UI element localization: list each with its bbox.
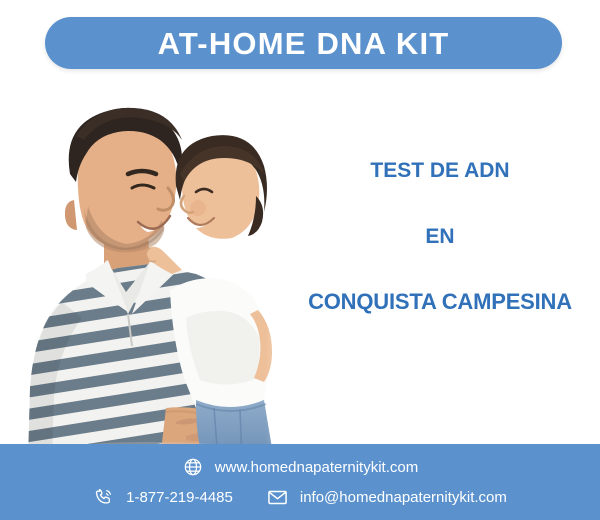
page-title: AT-HOME DNA KIT (158, 28, 450, 59)
headline-line-3: CONQUISTA CAMPESINA (285, 291, 595, 313)
footer-phone-label: 1-877-219-4485 (126, 490, 233, 505)
dna-kit-poster: AT-HOME DNA KIT (0, 0, 600, 520)
headline-line-2: EN (285, 226, 595, 247)
header-banner: AT-HOME DNA KIT (45, 17, 562, 69)
footer-row-website: www.homednapaternitykit.com (0, 456, 600, 478)
envelope-icon (267, 486, 289, 508)
headline-block: TEST DE ADN EN CONQUISTA CAMPESINA (285, 160, 595, 313)
footer-row-contact: 1-877-219-4485 info@homednapaternitykit.… (0, 486, 600, 508)
phone-icon (93, 486, 115, 508)
footer-email-label: info@homednapaternitykit.com (300, 490, 507, 505)
globe-icon (182, 456, 204, 478)
footer-website[interactable]: www.homednapaternitykit.com (182, 456, 418, 478)
footer-phone[interactable]: 1-877-219-4485 (93, 486, 233, 508)
headline-line-1: TEST DE ADN (285, 160, 595, 181)
footer-website-label: www.homednapaternitykit.com (215, 460, 418, 475)
footer-bar: www.homednapaternitykit.com 1-877-219-44… (0, 444, 600, 520)
footer-email[interactable]: info@homednapaternitykit.com (267, 486, 507, 508)
